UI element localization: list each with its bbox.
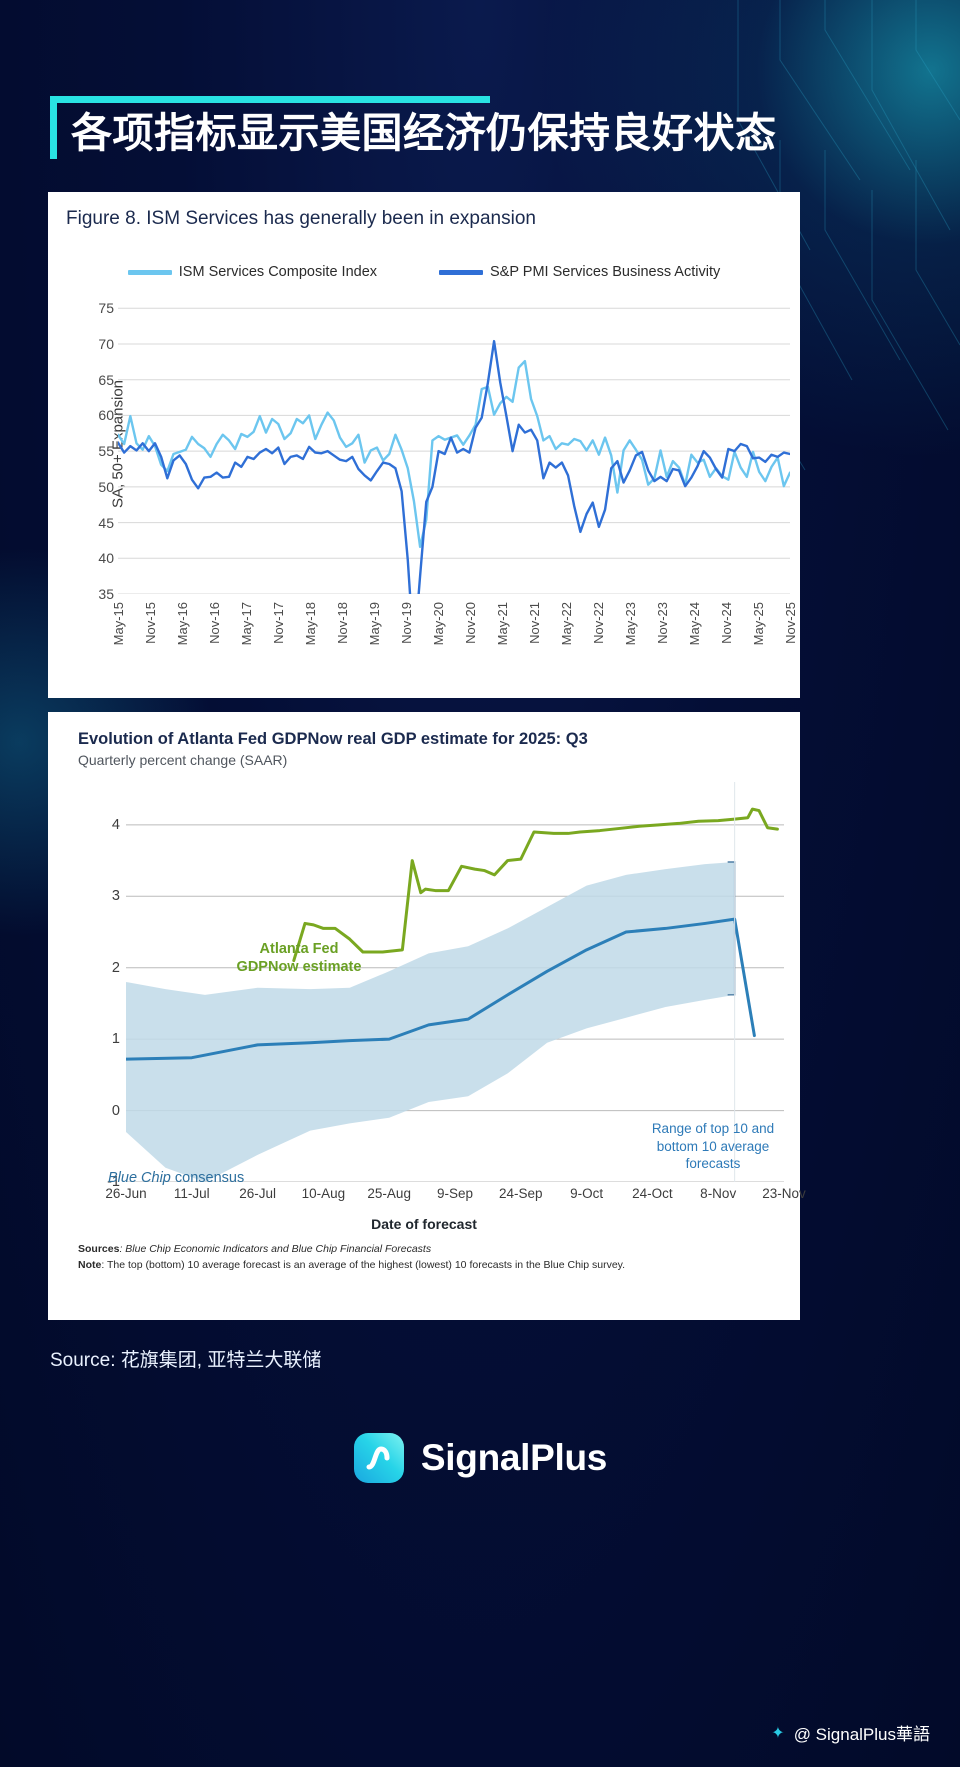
x-tick-label: Nov-23 — [655, 602, 670, 644]
x-tick-label: 24-Sep — [499, 1186, 543, 1201]
x-tick-label: 11-Jul — [174, 1186, 210, 1201]
x-tick-label: Nov-21 — [527, 602, 542, 644]
x-tick-label: May-24 — [687, 602, 702, 645]
x-tick-label: May-15 — [111, 602, 126, 645]
x-tick-label: Nov-20 — [463, 602, 478, 644]
sources-label: Sources — [78, 1243, 119, 1255]
figure-1-y-ticks: 354045505560657075 — [76, 294, 114, 594]
figure-2-title: Evolution of Atlanta Fed GDPNow real GDP… — [48, 712, 800, 749]
y-tick-label: 60 — [98, 407, 114, 423]
figure-1-series-area — [118, 294, 790, 594]
note-text: : The top (bottom) 10 average forecast i… — [101, 1259, 625, 1271]
figure-2-plot: -101234 Atlanta FedGDPNow estimate Range… — [48, 782, 800, 1182]
x-tick-label: Nov-15 — [143, 602, 158, 644]
y-tick-label: 65 — [98, 372, 114, 388]
figure-2-sources-note: Sources: Blue Chip Economic Indicators a… — [78, 1242, 778, 1258]
y-tick-label: 40 — [98, 550, 114, 566]
figure-2-notes: Sources: Blue Chip Economic Indicators a… — [48, 1232, 800, 1274]
figure-1-card: Figure 8. ISM Services has generally bee… — [48, 192, 800, 698]
x-tick-label: Nov-19 — [399, 602, 414, 644]
legend-item-ism-services: ISM Services Composite Index — [128, 264, 377, 280]
x-tick-label: 26-Jun — [105, 1186, 146, 1201]
signalplus-logo-icon — [353, 1432, 405, 1484]
x-tick-label: May-22 — [559, 602, 574, 645]
x-tick-label: 23-Nov — [762, 1186, 806, 1201]
brand-name: SignalPlus — [421, 1437, 607, 1479]
y-tick-label: 0 — [112, 1103, 120, 1119]
brand-logo-row: SignalPlus — [0, 1432, 960, 1484]
x-tick-label: Nov-22 — [591, 602, 606, 644]
y-tick-label: 35 — [98, 586, 114, 602]
sources-text: : Blue Chip Economic Indicators and Blue… — [119, 1243, 431, 1255]
x-tick-label: May-23 — [623, 602, 638, 645]
x-tick-label: May-18 — [303, 602, 318, 645]
diamond-icon: ✦ — [771, 1723, 784, 1743]
y-tick-label: 50 — [98, 479, 114, 495]
figure-2-methodology-note: Note: The top (bottom) 10 average foreca… — [78, 1258, 778, 1274]
note-label: Note — [78, 1259, 101, 1271]
x-tick-label: Nov-25 — [783, 602, 798, 644]
source-attribution: Source: 花旗集团, 亚特兰大联储 — [50, 1345, 321, 1372]
y-tick-label: 45 — [98, 515, 114, 531]
y-tick-label: 70 — [98, 336, 114, 352]
figure-2-series-area — [126, 782, 784, 1182]
figure-1-x-ticks: May-15Nov-15May-16Nov-16May-17Nov-17May-… — [118, 596, 790, 688]
legend-swatch-ism-services — [128, 270, 172, 275]
figure-2-x-axis-title: Date of forecast — [48, 1216, 800, 1232]
y-tick-label: 55 — [98, 443, 114, 459]
headline-left-accent-bar — [50, 103, 57, 159]
page-title: 各项指标显示美国经济仍保持良好状态 — [71, 103, 777, 159]
legend-item-sp-pmi: S&P PMI Services Business Activity — [439, 264, 720, 280]
figure-1-plot: SA, 50+ Expansion 354045505560657075 May… — [48, 294, 800, 594]
figure-1-title: Figure 8. ISM Services has generally bee… — [48, 192, 800, 230]
footer-handle: @ SignalPlus華語 — [794, 1720, 930, 1745]
figure-2-y-ticks: -101234 — [88, 782, 120, 1182]
y-tick-label: 75 — [98, 300, 114, 316]
x-tick-label: 10-Aug — [302, 1186, 346, 1201]
figure-2-x-ticks: 26-Jun11-Jul26-Jul10-Aug25-Aug9-Sep24-Se… — [126, 1186, 784, 1208]
x-tick-label: 8-Nov — [700, 1186, 736, 1201]
y-tick-label: 4 — [112, 817, 120, 833]
x-tick-label: May-25 — [751, 602, 766, 645]
y-tick-label: 1 — [112, 1031, 120, 1047]
x-tick-label: May-20 — [431, 602, 446, 645]
headline-block: 各项指标显示美国经济仍保持良好状态 — [50, 96, 777, 159]
legend-swatch-sp-pmi — [439, 270, 483, 275]
x-tick-label: 9-Oct — [570, 1186, 603, 1201]
x-tick-label: 9-Sep — [437, 1186, 473, 1201]
legend-label-ism-services: ISM Services Composite Index — [179, 264, 377, 280]
y-tick-label: 3 — [112, 888, 120, 904]
x-tick-label: May-16 — [175, 602, 190, 645]
footer-handle-row: ✦ @ SignalPlus華語 — [771, 1720, 930, 1745]
y-tick-label: 2 — [112, 960, 120, 976]
figure-2-subtitle: Quarterly percent change (SAAR) — [48, 749, 800, 768]
x-tick-label: Nov-24 — [719, 602, 734, 644]
x-tick-label: May-19 — [367, 602, 382, 645]
headline-top-accent-bar — [50, 96, 490, 103]
x-tick-label: Nov-16 — [207, 602, 222, 644]
x-tick-label: Nov-17 — [271, 602, 286, 644]
x-tick-label: May-17 — [239, 602, 254, 645]
x-tick-label: May-21 — [495, 602, 510, 645]
legend-label-sp-pmi: S&P PMI Services Business Activity — [490, 264, 720, 280]
x-tick-label: Nov-18 — [335, 602, 350, 644]
figure-1-legend: ISM Services Composite Index S&P PMI Ser… — [48, 264, 800, 280]
x-tick-label: 25-Aug — [367, 1186, 411, 1201]
figure-2-card: Evolution of Atlanta Fed GDPNow real GDP… — [48, 712, 800, 1320]
x-tick-label: 24-Oct — [632, 1186, 673, 1201]
x-tick-label: 26-Jul — [239, 1186, 276, 1201]
